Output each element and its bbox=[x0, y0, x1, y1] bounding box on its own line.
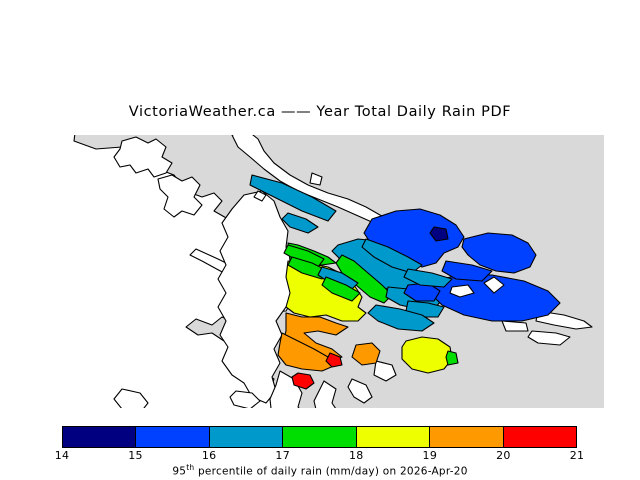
region-discovery-island-orange bbox=[352, 343, 380, 365]
colorbar-segment-18-19 bbox=[357, 427, 430, 447]
caption-rest: percentile of daily rain (mm/day) on 202… bbox=[194, 466, 467, 478]
region-san-juan-green-tip bbox=[446, 351, 458, 365]
colorbar-segment-20-21 bbox=[504, 427, 576, 447]
colorbar-segment-17-18 bbox=[283, 427, 356, 447]
colorbar-tick-16: 16 bbox=[202, 449, 217, 462]
map-panel bbox=[36, 135, 604, 408]
rainfall-map bbox=[36, 135, 604, 408]
colorbar-segment-16-17 bbox=[210, 427, 283, 447]
land-south-islet-b bbox=[374, 361, 396, 381]
colorbar-tick-19: 19 bbox=[423, 449, 438, 462]
colorbar-tick-17: 17 bbox=[275, 449, 290, 462]
colorbar-caption: 95th percentile of daily rain (mm/day) o… bbox=[0, 463, 640, 478]
land-south-peninsula-b bbox=[314, 381, 340, 408]
colorbar-gradient bbox=[62, 426, 577, 448]
land-east-tail-c bbox=[502, 321, 528, 331]
colorbar-tick-20: 20 bbox=[496, 449, 511, 462]
colorbar-segment-15-16 bbox=[136, 427, 209, 447]
land-islet-tiny-a bbox=[310, 173, 322, 185]
caption-prefix: 95 bbox=[172, 466, 186, 478]
rainfall-region-layer bbox=[250, 175, 560, 389]
colorbar-tick-14: 14 bbox=[55, 449, 70, 462]
colorbar-tick-18: 18 bbox=[349, 449, 364, 462]
colorbar-tick-21: 21 bbox=[570, 449, 585, 462]
colorbar: 1415161718192021 95th percentile of dail… bbox=[0, 424, 640, 480]
colorbar-ticks: 1415161718192021 bbox=[0, 449, 640, 463]
colorbar-segment-19-20 bbox=[430, 427, 503, 447]
colorbar-tick-15: 15 bbox=[128, 449, 143, 462]
region-san-juan-yellow bbox=[402, 337, 452, 373]
land-south-islet-a bbox=[348, 379, 372, 403]
colorbar-segment-14-15 bbox=[63, 427, 136, 447]
land-east-tail-b bbox=[528, 331, 570, 345]
page-title: VictoriaWeather.ca —— Year Total Daily R… bbox=[0, 104, 640, 120]
